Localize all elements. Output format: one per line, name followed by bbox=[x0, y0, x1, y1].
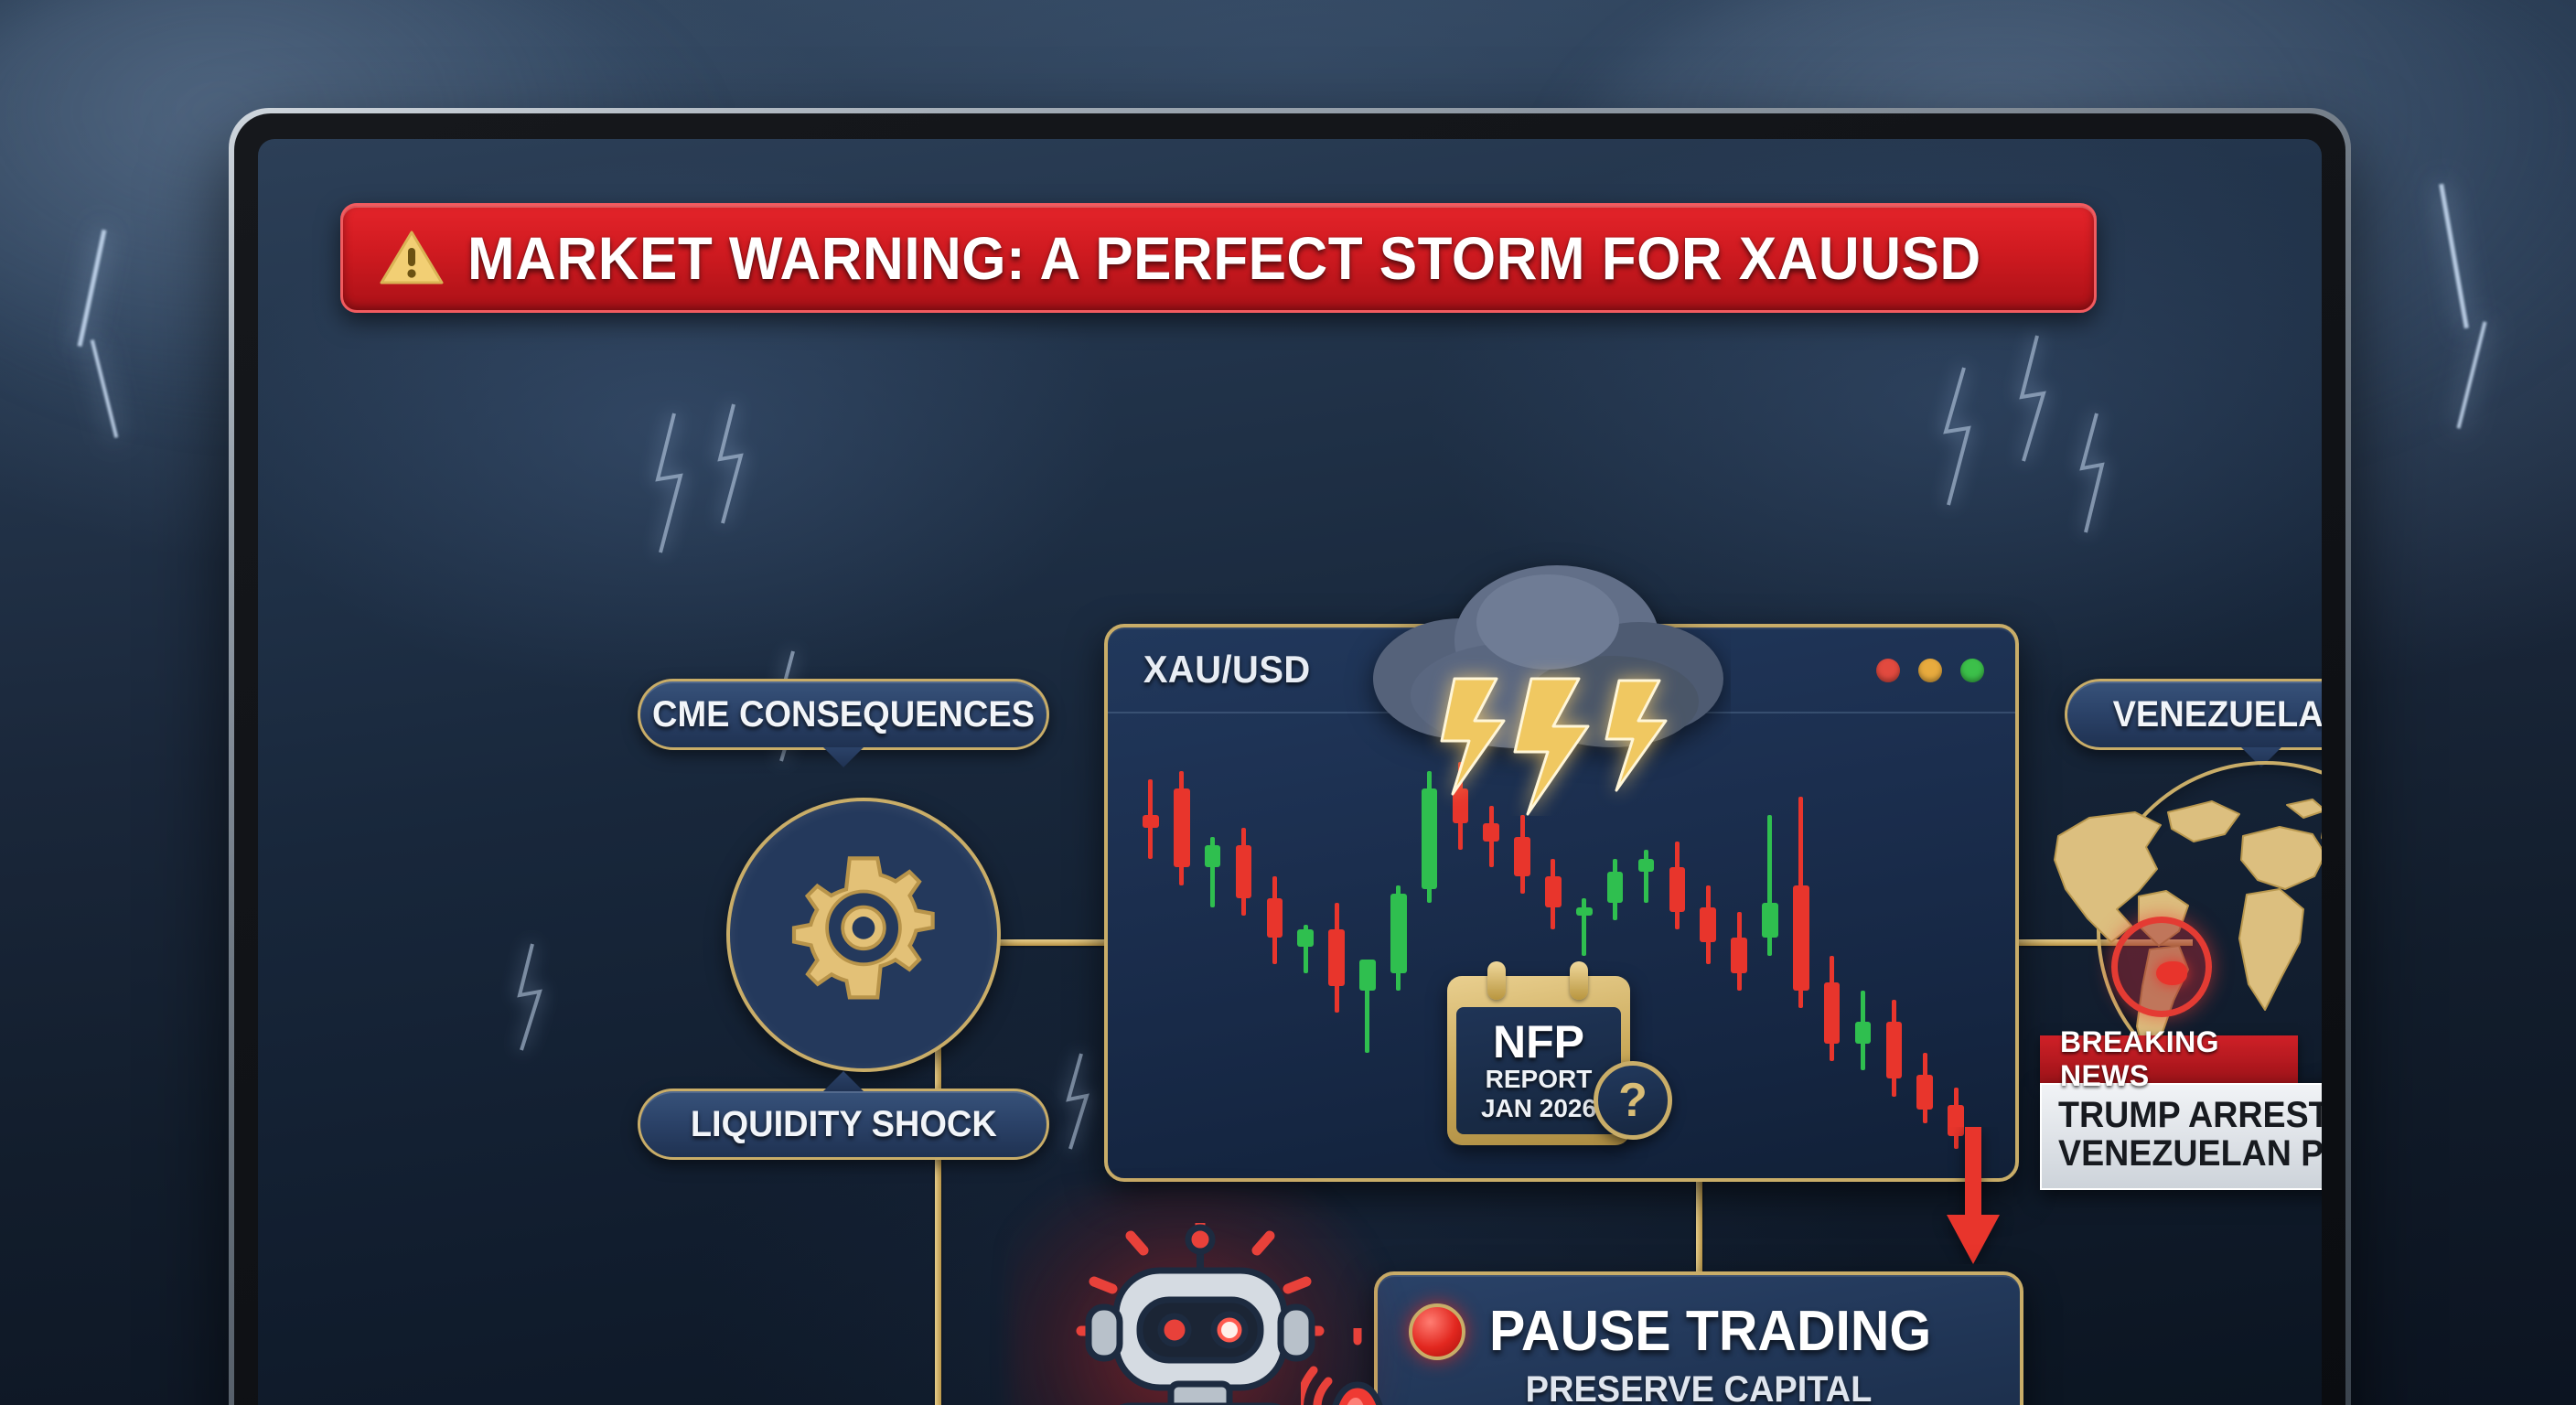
candle-body bbox=[1359, 960, 1376, 991]
pill-venezuela-tier[interactable]: VENEZUELA TIER bbox=[2065, 679, 2322, 750]
candle-body bbox=[1731, 938, 1747, 973]
pause-title-row: PAUSE TRADING bbox=[1409, 1299, 1989, 1364]
candlestick bbox=[1422, 713, 1438, 1178]
siren-beacon-icon bbox=[1301, 1328, 1411, 1405]
pause-trading-panel[interactable]: PAUSE TRADING PRESERVE CAPITAL ALGORITHM… bbox=[1374, 1271, 2023, 1405]
candlestick bbox=[1205, 713, 1221, 1178]
calendar-ring-icon bbox=[1487, 961, 1506, 1000]
candle-body bbox=[1762, 903, 1778, 938]
candlestick bbox=[1267, 713, 1283, 1178]
pill-label: LIQUIDITY SHOCK bbox=[691, 1104, 997, 1145]
candle-body bbox=[1514, 837, 1530, 876]
candle-body bbox=[1143, 815, 1159, 828]
candle-body bbox=[1174, 788, 1190, 868]
candlestick bbox=[1143, 713, 1159, 1178]
candlestick bbox=[1731, 713, 1747, 1178]
candlestick bbox=[1359, 713, 1376, 1178]
candle-body bbox=[1576, 907, 1593, 917]
connector-chart-to-pause bbox=[1696, 1182, 1702, 1273]
news-headline-line1: TRUMP ARRESTS bbox=[2058, 1096, 2322, 1134]
tablet-screen: MARKET WARNING: A PERFECT STORM FOR XAUU… bbox=[258, 139, 2322, 1405]
screenshot-root: MARKET WARNING: A PERFECT STORM FOR XAUU… bbox=[0, 0, 2576, 1405]
candlestick bbox=[1700, 713, 1716, 1178]
pill-label: CME CONSEQUENCES bbox=[652, 694, 1035, 735]
candle-body bbox=[1328, 929, 1345, 987]
market-warning-banner: MARKET WARNING: A PERFECT STORM FOR XAUU… bbox=[340, 203, 2097, 313]
candle-body bbox=[1267, 898, 1283, 938]
candlestick bbox=[1236, 713, 1252, 1178]
pause-title: PAUSE TRADING bbox=[1489, 1299, 1931, 1364]
candlestick bbox=[1824, 713, 1841, 1178]
breaking-news-tag: BREAKING NEWS bbox=[2040, 1035, 2298, 1083]
candle-body bbox=[1638, 859, 1655, 872]
down-arrow-icon bbox=[1932, 1127, 2014, 1264]
window-minimize-dot[interactable] bbox=[1918, 659, 1942, 682]
banner-title: MARKET WARNING: A PERFECT STORM FOR XAUU… bbox=[467, 223, 1981, 293]
calendar-ring-icon bbox=[1570, 961, 1588, 1000]
candle-body bbox=[1205, 845, 1221, 867]
candle-body bbox=[1297, 929, 1314, 947]
candlestick bbox=[1855, 713, 1872, 1178]
venezuela-marker-icon bbox=[2156, 961, 2187, 985]
candlestick bbox=[1390, 713, 1407, 1178]
candle-body bbox=[1669, 867, 1686, 911]
candle-body bbox=[1793, 885, 1809, 992]
red-led-icon bbox=[1409, 1303, 1465, 1360]
gear-icon bbox=[777, 848, 950, 1022]
candle-body bbox=[1545, 876, 1562, 907]
candlestick bbox=[1328, 713, 1345, 1178]
breaking-news-body: TRUMP ARRESTS VENEZUELAN PRESIDENT bbox=[2040, 1083, 2322, 1190]
candle-body bbox=[1824, 982, 1841, 1044]
tablet-bezel: MARKET WARNING: A PERFECT STORM FOR XAUU… bbox=[234, 113, 2345, 1405]
candle-body bbox=[1916, 1075, 1933, 1110]
candle-body bbox=[1390, 894, 1407, 973]
nfp-label: NFP bbox=[1493, 1020, 1584, 1064]
pill-cme-consequences[interactable]: CME CONSEQUENCES bbox=[638, 679, 1049, 750]
chart-title: XAU/USD bbox=[1143, 648, 1311, 692]
venezuela-highlight-icon bbox=[2111, 917, 2212, 1017]
window-close-dot[interactable] bbox=[1876, 659, 1900, 682]
window-maximize-dot[interactable] bbox=[1960, 659, 1984, 682]
window-controls[interactable] bbox=[1876, 659, 1984, 682]
pill-label: VENEZUELA TIER bbox=[2112, 694, 2322, 735]
candlestick bbox=[1948, 713, 1964, 1178]
tablet-device: MARKET WARNING: A PERFECT STORM FOR XAUU… bbox=[229, 108, 2351, 1405]
candlestick bbox=[1174, 713, 1190, 1178]
candle-body bbox=[1700, 907, 1716, 943]
candle-body bbox=[1886, 1022, 1903, 1079]
candlestick bbox=[1297, 713, 1314, 1178]
candlestick bbox=[1886, 713, 1903, 1178]
breaking-news-card: BREAKING NEWS TRUMP ARRESTS VENEZUELAN P… bbox=[2040, 1035, 2322, 1190]
warning-triangle-icon bbox=[380, 230, 444, 286]
candlestick bbox=[1762, 713, 1778, 1178]
candlestick bbox=[1916, 713, 1933, 1178]
candlestick bbox=[1669, 713, 1686, 1178]
candle-body bbox=[1453, 788, 1469, 824]
nfp-report-label: REPORT bbox=[1486, 1066, 1593, 1092]
question-badge[interactable]: ? bbox=[1594, 1061, 1672, 1140]
candle-body bbox=[1483, 823, 1499, 841]
nfp-calendar[interactable]: NFP REPORT JAN 2026 ? bbox=[1447, 976, 1630, 1145]
pause-subtitle: PRESERVE CAPITAL bbox=[1423, 1369, 1974, 1405]
candle-body bbox=[1422, 788, 1438, 890]
pill-liquidity-shock[interactable]: LIQUIDITY SHOCK bbox=[638, 1089, 1049, 1160]
news-headline-line2: VENEZUELAN PRESIDENT bbox=[2058, 1134, 2322, 1173]
candle-body bbox=[1607, 872, 1624, 903]
node-gear[interactable] bbox=[726, 798, 1001, 1072]
candle-body bbox=[1236, 845, 1252, 898]
candle-body bbox=[1855, 1022, 1872, 1044]
candlestick bbox=[1793, 713, 1809, 1178]
candle-wick bbox=[1644, 850, 1648, 903]
alert-robot-icon bbox=[1063, 1223, 1337, 1405]
nfp-date-label: JAN 2026 bbox=[1481, 1095, 1596, 1121]
